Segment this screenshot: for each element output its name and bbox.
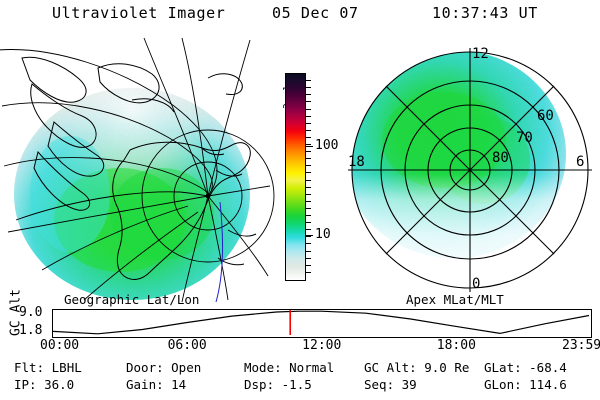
colorbar-minor-tick — [305, 251, 311, 252]
mlt-panel-caption: Apex MLat/MLT — [406, 292, 504, 307]
status-value: 14 — [171, 377, 186, 392]
colorbar-minor-tick — [305, 180, 311, 181]
colorbar-major-tick — [305, 235, 313, 236]
time-tick-label: 00:00 — [40, 338, 79, 353]
colorbar-minor-tick — [305, 272, 311, 273]
colorbar-minor-tick — [305, 80, 311, 81]
observation-time: 10:37:43 UT — [432, 4, 538, 22]
header-bar: Ultraviolet Imager 05 Dec 07 10:37:43 UT — [0, 4, 600, 30]
mlt-aurora-emission — [334, 42, 588, 296]
status-label: GC Alt: — [364, 360, 424, 375]
mlt-label-18: 18 — [348, 154, 365, 170]
colorbar-minor-tick — [305, 243, 311, 244]
observation-date: 05 Dec 07 — [272, 4, 359, 22]
colorbar-minor-tick — [305, 236, 311, 237]
gc-alt-max-value: 9.0 — [19, 305, 42, 320]
time-tick-label: 06:00 — [168, 338, 207, 353]
time-tick-label: 18:00 — [437, 338, 476, 353]
colorbar-legend: photon cm-2s-1 10010 — [264, 60, 334, 300]
colorbar-minor-tick — [305, 215, 311, 216]
status-value: 39 — [402, 377, 417, 392]
mlt-label-6: 6 — [576, 154, 584, 170]
status-label: Mode: — [244, 360, 289, 375]
sub-satellite-point — [206, 194, 211, 199]
geographic-panel-caption: Geographic Lat/Lon — [64, 292, 199, 307]
geographic-aurora-image[interactable] — [12, 44, 270, 296]
status-glon: GLon: 114.6 — [484, 377, 567, 392]
colorbar-minor-tick — [305, 130, 311, 131]
colorbar-minor-tick — [305, 101, 311, 102]
colorbar-minor-tick — [305, 194, 311, 195]
mlat-label-80: 80 — [492, 150, 509, 166]
colorbar-minor-tick — [305, 94, 311, 95]
colorbar-swatch — [285, 73, 306, 281]
mlat-label-70: 70 — [516, 130, 533, 146]
colorbar-minor-tick — [305, 151, 311, 152]
status-label: Flt: — [14, 360, 52, 375]
colorbar-minor-tick — [305, 172, 311, 173]
mlt-dial-plot[interactable]: 12 6 0 18 60 70 80 — [334, 42, 588, 296]
status-label: Door: — [126, 360, 171, 375]
status-ip: IP: 36.0 — [14, 377, 74, 392]
status-gain: Gain: 14 — [126, 377, 186, 392]
status-label: Dsp: — [244, 377, 282, 392]
orbit-plot-frame[interactable] — [52, 309, 592, 338]
colorbar-minor-tick — [305, 109, 311, 110]
status-door: Door: Open — [126, 360, 201, 375]
colorbar-minor-tick — [305, 222, 311, 223]
status-value: 9.0 Re — [424, 360, 469, 375]
status-label: Seq: — [364, 377, 402, 392]
status-label: GLat: — [484, 360, 529, 375]
colorbar-minor-tick — [305, 116, 311, 117]
colorbar-major-tick — [305, 146, 313, 147]
ultraviolet-imager-window: Ultraviolet Imager 05 Dec 07 10:37:43 UT — [0, 0, 600, 400]
colorbar-minor-tick — [305, 137, 311, 138]
status-seq: Seq: 39 — [364, 377, 417, 392]
colorbar-minor-tick — [305, 158, 311, 159]
status-glat: GLat: -68.4 — [484, 360, 567, 375]
status-value: Normal — [289, 360, 334, 375]
status-mode: Mode: Normal — [244, 360, 334, 375]
colorbar-minor-tick — [305, 201, 311, 202]
colorbar-minor-tick — [305, 258, 311, 259]
colorbar-minor-tick — [305, 265, 311, 266]
mlat-label-60: 60 — [537, 108, 554, 124]
colorbar-minor-tick — [305, 229, 311, 230]
status-flt: Flt: LBHL — [14, 360, 82, 375]
colorbar-minor-tick — [305, 208, 311, 209]
colorbar-minor-tick — [305, 123, 311, 124]
time-tick-label: 23:59 — [562, 338, 600, 353]
status-value: 114.6 — [529, 377, 567, 392]
gc-alt-min-value: 1.8 — [19, 323, 42, 338]
instrument-title: Ultraviolet Imager — [52, 4, 225, 22]
status-footer: Flt: LBHLDoor: OpenMode: NormalGC Alt: 9… — [0, 360, 600, 398]
orbit-altitude-strip: Geographic Lat/Lon Apex MLat/MLT GC Alt … — [0, 292, 600, 354]
colorbar-gradient — [286, 74, 305, 280]
colorbar-minor-tick — [305, 165, 311, 166]
mlt-label-12: 12 — [472, 46, 489, 62]
status-value: Open — [171, 360, 201, 375]
status-gcalt: GC Alt: 9.0 Re — [364, 360, 469, 375]
status-value: -68.4 — [529, 360, 567, 375]
colorbar-minor-tick — [305, 187, 311, 188]
status-label: Gain: — [126, 377, 171, 392]
status-value: -1.5 — [282, 377, 312, 392]
colorbar-minor-tick — [305, 144, 311, 145]
status-label: IP: — [14, 377, 44, 392]
time-tick-label: 12:00 — [302, 338, 341, 353]
status-label: GLon: — [484, 377, 529, 392]
apex-mlat-mlt-panel[interactable]: 12 6 0 18 60 70 80 — [334, 42, 588, 296]
status-value: LBHL — [52, 360, 82, 375]
orbit-altitude-curve — [53, 310, 589, 335]
mlt-spokes — [348, 48, 592, 292]
status-value: 36.0 — [44, 377, 74, 392]
colorbar-minor-tick — [305, 87, 311, 88]
geographic-image-panel[interactable] — [12, 44, 270, 296]
mlt-label-0: 0 — [472, 276, 480, 292]
status-dsp: Dsp: -1.5 — [244, 377, 312, 392]
colorbar-tick-label: 10 — [315, 227, 331, 242]
